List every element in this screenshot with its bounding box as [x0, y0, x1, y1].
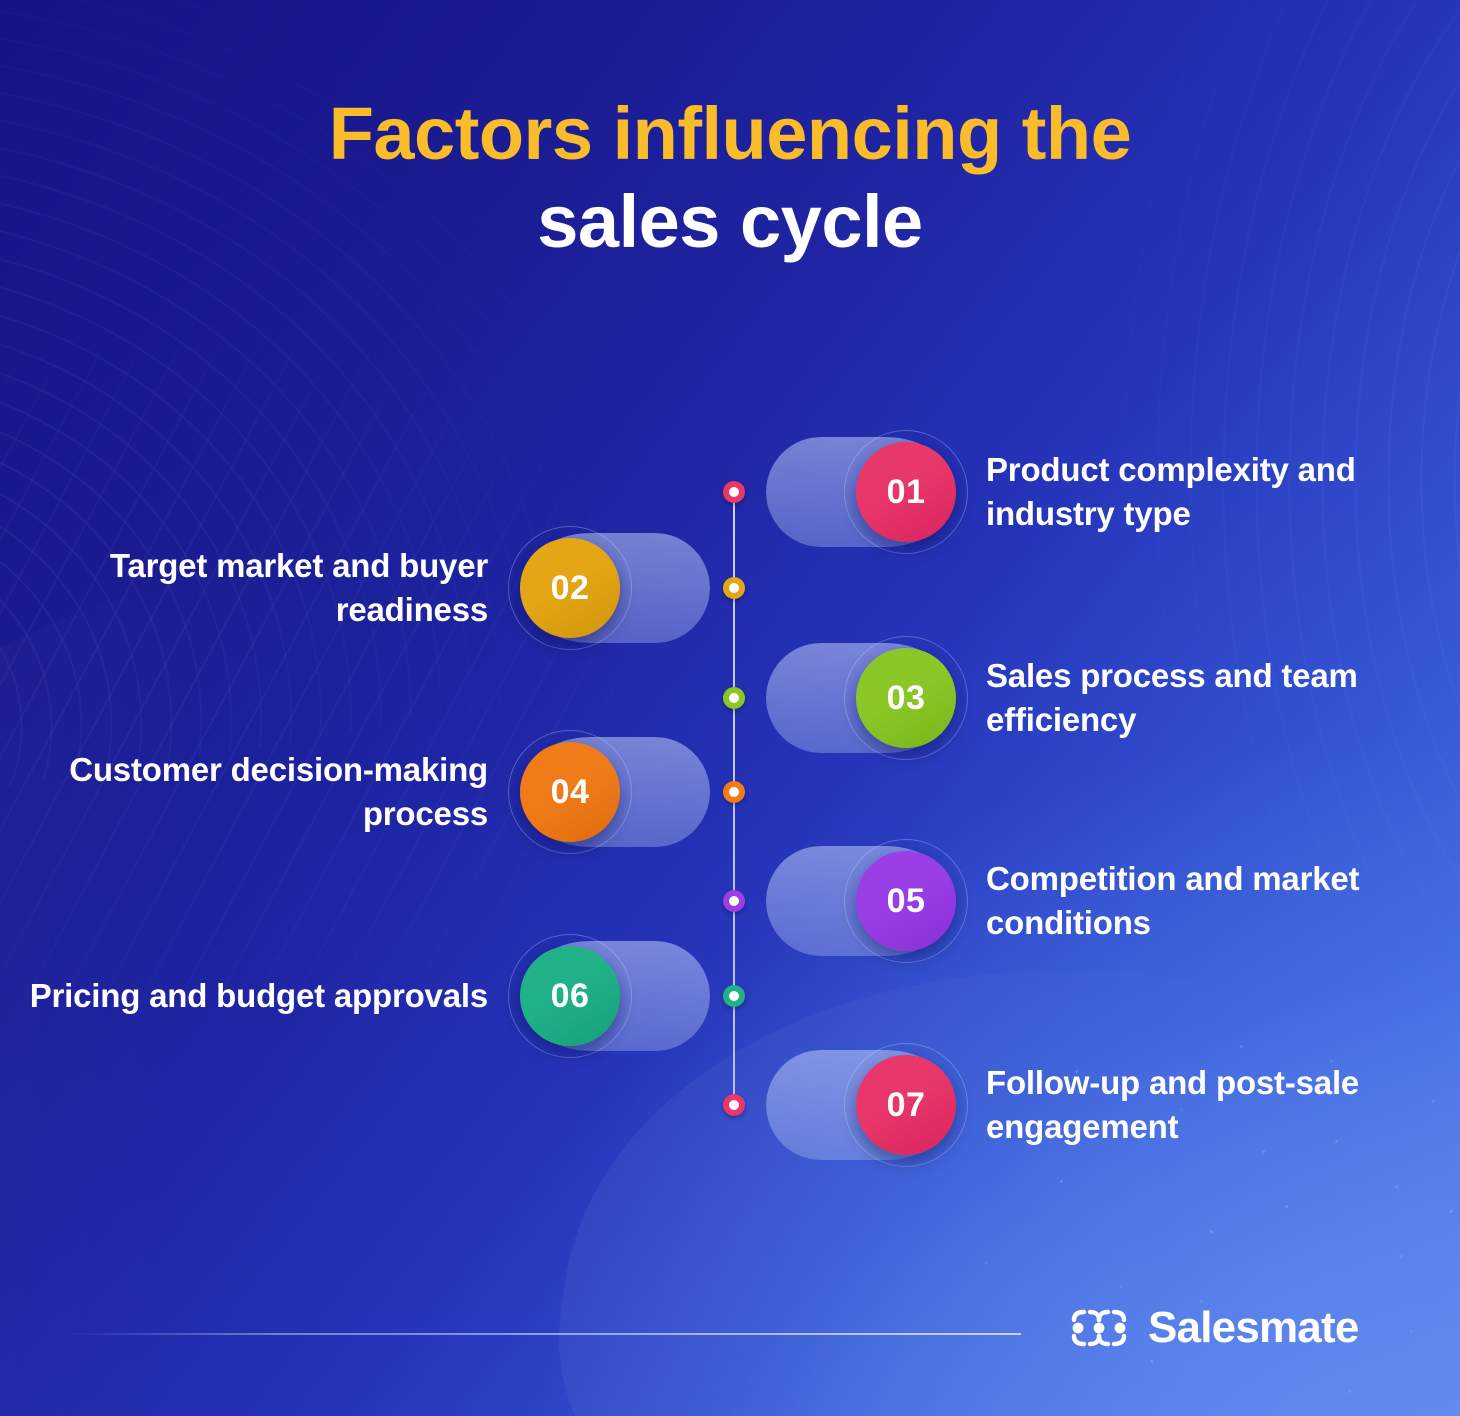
star-speckle [1410, 1330, 1413, 1333]
star-speckle [1150, 1360, 1153, 1363]
node-label-03: Sales process and team efficiency [986, 654, 1446, 742]
number-pin-02[interactable]: 02 [500, 513, 710, 663]
page-title-line-two: sales cycle [0, 184, 1460, 260]
timeline-dot-core [729, 1100, 739, 1110]
brand-logo[interactable]: Salesmate [1068, 1303, 1359, 1353]
timeline-dot-04[interactable] [723, 781, 745, 803]
pin-number-badge: 04 [520, 742, 620, 842]
node-label-06: Pricing and budget approvals [20, 974, 488, 1018]
number-pin-04[interactable]: 04 [500, 717, 710, 867]
star-speckle [1240, 1045, 1243, 1048]
star-speckle [1450, 1210, 1453, 1213]
infographic-canvas: Factors influencing the sales cycle 01Pr… [0, 0, 1460, 1416]
timeline-dot-core [729, 487, 739, 497]
pin-number-badge: 02 [520, 538, 620, 638]
node-label-07: Follow-up and post-sale engagement [986, 1061, 1446, 1149]
timeline-dot-05[interactable] [723, 890, 745, 912]
timeline-dot-core [729, 787, 739, 797]
star-speckle [1060, 1180, 1063, 1183]
brand-name: Salesmate [1148, 1303, 1359, 1353]
timeline-dot-01[interactable] [723, 481, 745, 503]
timeline-dot-core [729, 583, 739, 593]
star-speckle [1395, 1185, 1398, 1188]
star-speckle [1262, 1150, 1265, 1153]
timeline-dot-02[interactable] [723, 577, 745, 599]
star-speckle [1210, 1230, 1213, 1233]
timeline-dot-core [729, 991, 739, 1001]
node-label-04: Customer decision-making process [20, 748, 488, 836]
timeline-dot-core [729, 693, 739, 703]
timeline-dot-core [729, 896, 739, 906]
node-label-05: Competition and market conditions [986, 857, 1446, 945]
salesmate-logo-icon [1068, 1306, 1130, 1350]
timeline-dot-06[interactable] [723, 985, 745, 1007]
star-speckle [1285, 1205, 1288, 1208]
pin-number-badge: 05 [856, 851, 956, 951]
footer-divider [66, 1333, 1021, 1335]
node-label-01: Product complexity and industry type [986, 448, 1446, 536]
star-speckle [1400, 1255, 1403, 1258]
page-title: Factors influencing the sales cycle [0, 96, 1460, 260]
number-pin-03[interactable]: 03 [766, 623, 976, 773]
number-pin-05[interactable]: 05 [766, 826, 976, 976]
star-speckle [1348, 1390, 1351, 1393]
pin-number-badge: 07 [856, 1055, 956, 1155]
number-pin-01[interactable]: 01 [766, 417, 976, 567]
number-pin-06[interactable]: 06 [500, 921, 710, 1071]
pin-number-badge: 06 [520, 946, 620, 1046]
star-speckle [985, 1262, 988, 1265]
timeline-dot-03[interactable] [723, 687, 745, 709]
pin-number-badge: 03 [856, 648, 956, 748]
star-speckle [1120, 1285, 1123, 1288]
timeline-dot-07[interactable] [723, 1094, 745, 1116]
pin-number-badge: 01 [856, 442, 956, 542]
node-label-02: Target market and buyer readiness [20, 544, 488, 632]
page-title-line-one: Factors influencing the [0, 96, 1460, 172]
number-pin-07[interactable]: 07 [766, 1030, 976, 1180]
